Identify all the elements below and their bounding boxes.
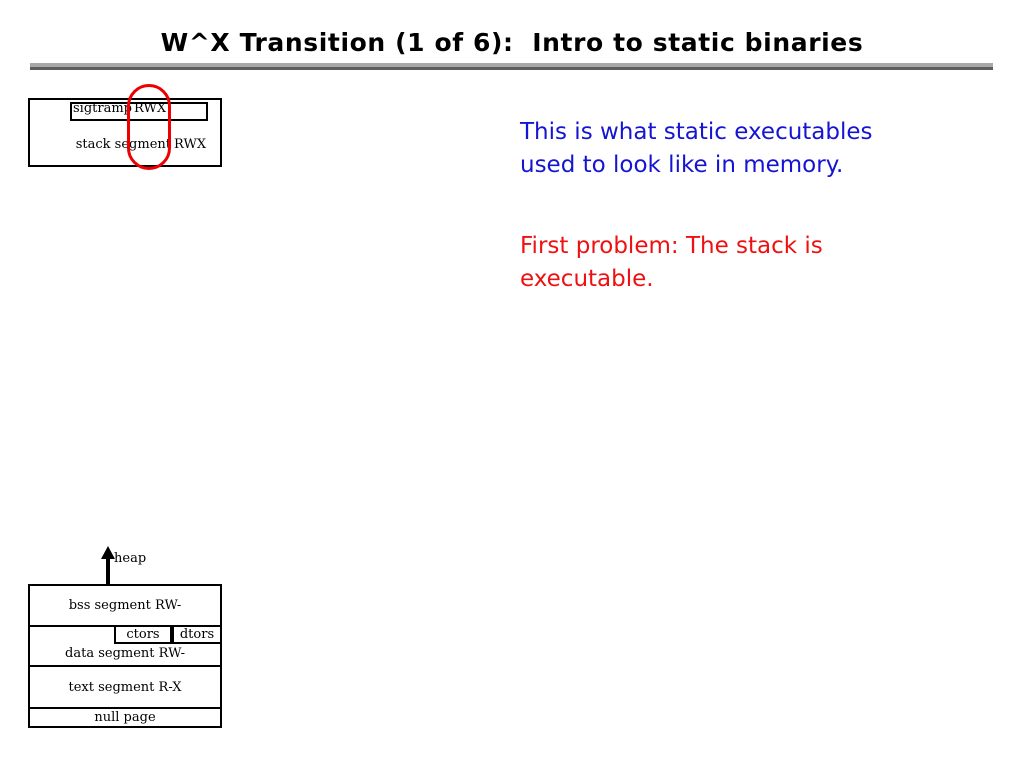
rwx-highlight-oval-annotation [127, 84, 171, 170]
rule-shadow [30, 67, 993, 70]
title-separator-rule [30, 63, 993, 70]
stack-segment-permissions: RWX [174, 137, 206, 152]
ctors-box: ctors [114, 625, 172, 644]
text-segment-label: text segment R-X [68, 680, 181, 695]
page-title: W^X Transition (1 of 6): Intro to static… [0, 28, 1024, 57]
heap-label: heap [114, 551, 146, 566]
sigtramp-label: sigtramp [30, 101, 132, 116]
dtors-box: dtors [172, 625, 222, 644]
static-executable-memory-map: bss segment RW- data segment RW- ctors d… [28, 584, 222, 743]
data-segment-label: data segment RW- [65, 646, 185, 661]
callout-problem: First problem: The stack is executable. [520, 230, 970, 296]
bss-segment-label: bss segment RW- [69, 598, 182, 613]
stack-memory-map: sigtramp RWX stack segment RWX [28, 98, 222, 167]
null-page-row: null page [28, 707, 222, 728]
ctors-label: ctors [126, 627, 159, 642]
text-segment-row: text segment R-X [28, 665, 222, 709]
bss-segment-row: bss segment RW- [28, 584, 222, 627]
null-page-label: null page [94, 710, 155, 725]
callout-description: This is what static executables used to … [520, 116, 970, 182]
dtors-label: dtors [180, 627, 214, 642]
